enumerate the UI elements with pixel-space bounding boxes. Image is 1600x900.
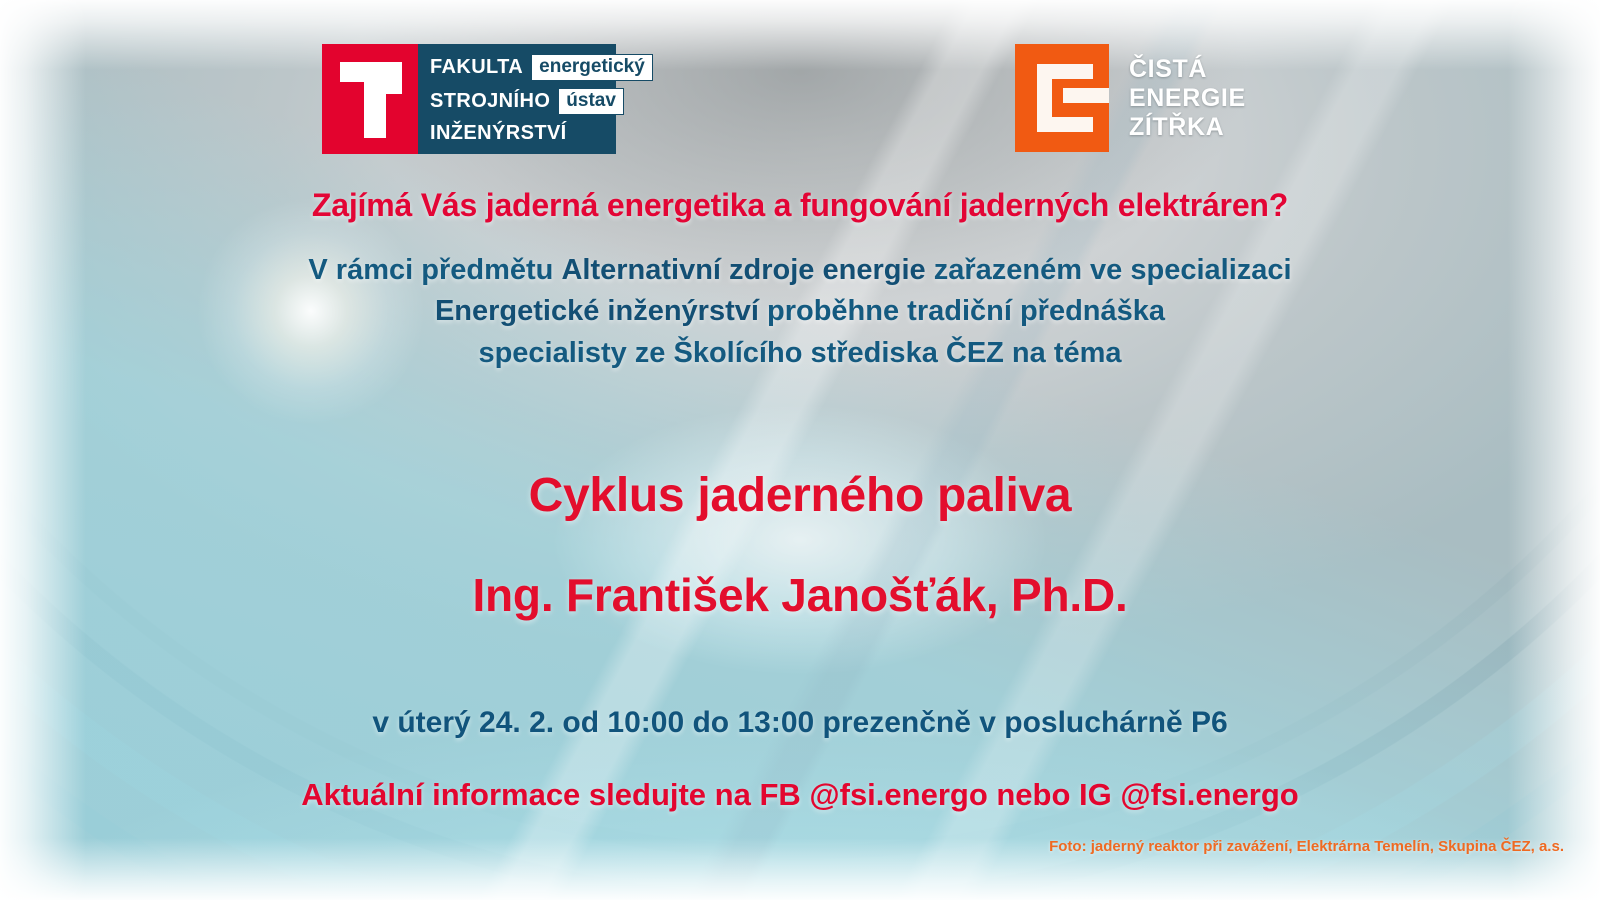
course-name: Alternativní zdroje energie	[561, 254, 925, 286]
cez-word-zitrka: ZÍTŘKA	[1129, 113, 1246, 141]
poster-content: FAKULTA energetický STROJNÍHO ústav INŽE…	[0, 0, 1600, 900]
speaker-name: Ing. František Janošťák, Ph.D.	[0, 568, 1600, 622]
intro-line1-c: zařazeném ve specializaci	[926, 254, 1292, 286]
intro-line2-b: proběhne tradiční přednáška	[759, 295, 1165, 327]
fsi-word-strojniho: STROJNÍHO	[430, 90, 550, 113]
intro-line3: specialisty ze Školícího střediska ČEZ n…	[478, 337, 1121, 369]
intro-paragraph: V rámci předmětu Alternativní zdroje ene…	[0, 250, 1600, 374]
social-info: Aktuální informace sledujte na FB @fsi.e…	[0, 777, 1600, 813]
cez-word-cista: ČISTÁ	[1129, 55, 1246, 83]
cez-logo: ČISTÁ ENERGIE ZÍTŘKA	[1015, 44, 1246, 152]
fsi-chip-ustav: ústav	[558, 88, 624, 115]
poster-canvas: FAKULTA energetický STROJNÍHO ústav INŽE…	[0, 0, 1600, 900]
intro-line1-a: V rámci předmětu	[308, 254, 561, 286]
cez-word-energie: ENERGIE	[1129, 84, 1246, 112]
lecture-topic: Cyklus jaderného paliva	[0, 468, 1600, 523]
fsi-logo-text: FAKULTA energetický STROJNÍHO ústav INŽE…	[418, 44, 616, 154]
intro-line-1: V rámci předmětu Alternativní zdroje ene…	[0, 250, 1600, 291]
cez-e-mark-icon	[1015, 44, 1109, 152]
cez-logo-text: ČISTÁ ENERGIE ZÍTŘKA	[1129, 55, 1246, 141]
fsi-vut-logo: FAKULTA energetický STROJNÍHO ústav INŽE…	[322, 44, 616, 154]
datetime-venue: v úterý 24. 2. od 10:00 do 13:00 prezenč…	[0, 706, 1600, 740]
logo-row: FAKULTA energetický STROJNÍHO ústav INŽE…	[0, 44, 1600, 156]
photo-credit: Foto: jaderný reaktor při zavážení, Elek…	[1049, 838, 1564, 855]
vut-t-mark-icon	[322, 44, 418, 154]
fsi-chip-energeticky: energetický	[531, 54, 653, 81]
fsi-word-inzenyrstvi: INŽENÝRSTVÍ	[430, 122, 567, 145]
intro-line-3: specialisty ze Školícího střediska ČEZ n…	[0, 333, 1600, 374]
fsi-word-fakulta: FAKULTA	[430, 56, 523, 79]
intro-line-2: Energetické inženýrství proběhne tradičn…	[0, 291, 1600, 332]
specialization-name: Energetické inženýrství	[435, 295, 759, 327]
headline-question: Zajímá Vás jaderná energetika a fungován…	[0, 187, 1600, 224]
